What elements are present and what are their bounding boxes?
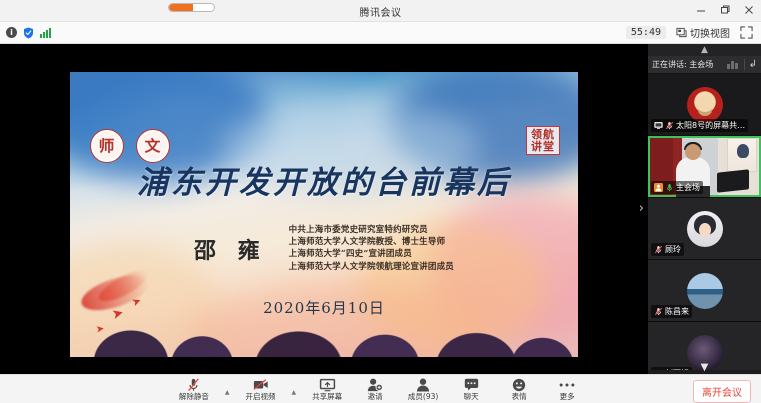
window-title: 腾讯会议 <box>0 4 761 19</box>
credential-line: 中共上海市委党史研究室特约研究员 <box>289 225 454 236</box>
members-icon <box>416 378 430 392</box>
invite-label: 邀请 <box>368 392 383 402</box>
members-label: 成员(93) <box>408 392 438 402</box>
app-toolbar: i 55:49 切换视图 <box>0 22 761 44</box>
chat-button[interactable]: 聊天 <box>454 378 488 402</box>
video-options-caret[interactable]: ▲ <box>292 389 297 396</box>
badge-line-2: 讲堂 <box>531 141 555 153</box>
participant-label-1: 主会场 <box>651 181 703 194</box>
shield-icon[interactable] <box>23 27 34 39</box>
credential-line: 上海师范大学人文学院领航理论宣讲团成员 <box>289 262 454 273</box>
emoji-button[interactable]: 表情 <box>502 378 536 402</box>
badge-line-1: 领航 <box>531 129 555 141</box>
more-button[interactable]: 更多 <box>550 378 584 402</box>
sea-avatar <box>687 273 723 309</box>
university-logo-2-text: 文 <box>145 139 161 154</box>
mic-on-icon <box>665 183 674 192</box>
participant-label-0: 太阳8号的屏幕共… <box>651 119 748 132</box>
minimize-icon[interactable] <box>695 4 707 16</box>
mic-muted-icon <box>654 307 663 316</box>
collapse-panel-icon[interactable]: ↲ <box>744 59 757 70</box>
more-dots-icon <box>559 378 575 392</box>
switch-view-icon <box>676 27 687 38</box>
participant-tiles: 太阳8号的屏幕共… <box>648 74 761 370</box>
participant-name-0: 太阳8号的屏幕共… <box>676 120 745 131</box>
camera-off-icon <box>253 378 269 392</box>
fullscreen-icon[interactable] <box>740 26 753 39</box>
participants-panel: ▲ 正在讲话: 主会场 ↲ <box>648 44 761 374</box>
meeting-window: 腾讯会议 i 55:49 <box>0 0 761 403</box>
chat-bubble-icon <box>464 378 479 392</box>
members-button[interactable]: 成员(93) <box>406 378 440 402</box>
audio-options-caret[interactable]: ▲ <box>225 389 230 396</box>
chat-label: 聊天 <box>464 392 479 402</box>
toolbar-left-icons: i <box>0 27 51 39</box>
active-speaker-label: 正在讲话: 主会场 <box>652 59 713 70</box>
screen-share-icon <box>654 121 663 130</box>
laptop-object <box>717 169 749 192</box>
woman-avatar <box>687 211 723 247</box>
mic-muted-icon <box>654 245 663 254</box>
mic-muted-icon <box>665 121 674 130</box>
unmute-label: 解除静音 <box>179 392 209 402</box>
window-titlebar: 腾讯会议 <box>0 0 761 22</box>
signal-bars-icon[interactable] <box>40 28 51 38</box>
mic-muted-icon <box>187 378 200 392</box>
meeting-timer: 55:49 <box>626 26 666 39</box>
participant-name-2: 顾玲 <box>665 244 681 255</box>
restore-icon[interactable] <box>719 4 731 16</box>
volume-indicator-icon <box>727 61 738 69</box>
active-speaker-bar: 正在讲话: 主会场 ↲ <box>648 56 761 74</box>
share-screen-icon <box>319 378 336 392</box>
share-screen-label: 共享屏幕 <box>312 392 342 402</box>
unmute-button[interactable]: 解除静音 <box>177 378 211 402</box>
start-video-button[interactable]: 开启视频 <box>244 378 278 402</box>
emoji-label: 表情 <box>512 392 527 402</box>
leave-meeting-button[interactable]: 离开会议 <box>693 380 751 403</box>
panel-scroll-up[interactable]: ▲ <box>648 44 761 56</box>
credential-line: 上海师范大学“四史”宣讲团成员 <box>289 249 454 260</box>
presentation-slide: 师 文 领航 讲堂 浦东开发开放的台前幕后 邵 雍 中共上海市委党史研究室特约研… <box>70 72 578 357</box>
toolbar-right-group: 55:49 切换视图 <box>626 25 761 40</box>
invite-person-icon <box>367 378 383 392</box>
smiley-icon <box>512 378 526 392</box>
participant-tile-1[interactable]: 主会场 <box>648 136 761 198</box>
participant-tile-0[interactable]: 太阳8号的屏幕共… <box>648 74 761 136</box>
lecture-series-badge: 领航 讲堂 <box>526 126 560 155</box>
participant-label-2: 顾玲 <box>651 243 684 256</box>
participant-tile-2[interactable]: 顾玲 <box>648 198 761 260</box>
invite-button[interactable]: 邀请 <box>358 378 392 402</box>
credential-line: 上海师范大学人文学院教授、博士生导师 <box>289 237 454 248</box>
speaker-name: 邵 雍 <box>194 233 267 265</box>
host-avatar-icon <box>654 183 663 192</box>
monkey-avatar <box>687 87 723 123</box>
background-poster <box>727 138 757 172</box>
switch-view-label: 切换视图 <box>690 25 730 40</box>
speaker-credentials: 中共上海市委党史研究室特约研究员 上海师范大学人文学院教授、博士生导师 上海师范… <box>289 225 454 273</box>
participant-label-3: 陈昌来 <box>651 305 692 318</box>
participant-head <box>685 144 701 160</box>
info-icon[interactable]: i <box>6 27 17 38</box>
more-label: 更多 <box>560 392 575 402</box>
window-buttons <box>695 4 755 16</box>
shared-screen-stage: 师 文 领航 讲堂 浦东开发开放的台前幕后 邵 雍 中共上海市委党史研究室特约研… <box>0 44 648 374</box>
meeting-controls-bar: 解除静音 ▲ 开启视频 ▲ <box>0 374 761 403</box>
slide-title: 浦东开发开放的台前幕后 <box>70 157 578 202</box>
participant-tile-3[interactable]: 陈昌来 <box>648 260 761 322</box>
university-logo-1-text: 师 <box>99 139 115 154</box>
close-icon[interactable] <box>743 4 755 16</box>
switch-view-button[interactable]: 切换视图 <box>676 25 730 40</box>
participant-name-3: 陈昌来 <box>665 306 689 317</box>
next-panel-arrow[interactable]: › <box>639 202 644 215</box>
speaker-block: 邵 雍 中共上海市委党史研究室特约研究员 上海师范大学人文学院教授、博士生导师 … <box>70 225 578 273</box>
participant-name-1: 主会场 <box>676 182 700 193</box>
panel-scroll-down[interactable]: ▼ <box>648 360 761 374</box>
start-video-label: 开启视频 <box>246 392 276 402</box>
share-screen-button[interactable]: 共享屏幕 <box>310 378 344 402</box>
crowd-silhouette <box>70 305 578 357</box>
